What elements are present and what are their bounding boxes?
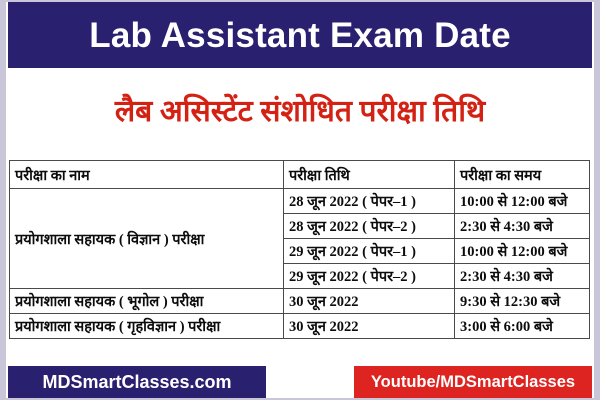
cell-exam-name: प्रयोगशाला सहायक ( विज्ञान ) परीक्षा (10, 189, 284, 289)
footer-website-bar[interactable]: MDSmartClasses.com (8, 366, 266, 398)
exam-schedule-table: परीक्षा का नाम परीक्षा तिथि परीक्षा का स… (9, 160, 590, 339)
footer-website-label: MDSmartClasses.com (42, 373, 231, 391)
table-body: प्रयोगशाला सहायक ( विज्ञान ) परीक्षा28 ज… (10, 189, 590, 339)
cell-exam-date: 30 जून 2022 (284, 289, 455, 314)
cell-exam-date: 29 जून 2022 ( पेपर–1 ) (284, 239, 455, 264)
cell-exam-time: 9:30 से 12:30 बजे (455, 289, 590, 314)
table-header-row: परीक्षा का नाम परीक्षा तिथि परीक्षा का स… (10, 161, 590, 189)
cell-exam-date: 30 जून 2022 (284, 314, 455, 339)
poster-title-bar: Lab Assistant Exam Date (8, 2, 592, 68)
column-header-exam-date: परीक्षा तिथि (284, 161, 455, 189)
cell-exam-time: 10:00 से 12:00 बजे (455, 189, 590, 214)
poster-footer: MDSmartClasses.com Youtube/MDSmartClasse… (8, 366, 592, 398)
poster-subheading-band: लैब असिस्टेंट संशोधित परीक्षा तिथि (8, 68, 592, 156)
exam-date-poster: Lab Assistant Exam Date लैब असिस्टेंट सं… (0, 0, 600, 400)
footer-youtube-label: Youtube/MDSmartClasses (371, 374, 575, 391)
cell-exam-time: 2:30 से 4:30 बजे (455, 214, 590, 239)
footer-youtube-bar[interactable]: Youtube/MDSmartClasses (354, 366, 592, 398)
cell-exam-name: प्रयोगशाला सहायक ( गृहविज्ञान ) परीक्षा (10, 314, 284, 339)
cell-exam-time: 2:30 से 4:30 बजे (455, 264, 590, 289)
table-row: प्रयोगशाला सहायक ( विज्ञान ) परीक्षा28 ज… (10, 189, 590, 214)
subheading-hindi: लैब असिस्टेंट संशोधित परीक्षा तिथि (115, 95, 485, 130)
table-row: प्रयोगशाला सहायक ( भूगोल ) परीक्षा30 जून… (10, 289, 590, 314)
page-title: Lab Assistant Exam Date (89, 18, 511, 53)
cell-exam-date: 28 जून 2022 ( पेपर–1 ) (284, 189, 455, 214)
cell-exam-time: 3:00 से 6:00 बजे (455, 314, 590, 339)
cell-exam-time: 10:00 से 12:00 बजे (455, 239, 590, 264)
exam-schedule-table-container: परीक्षा का नाम परीक्षा तिथि परीक्षा का स… (8, 160, 592, 339)
cell-exam-date: 28 जून 2022 ( पेपर–2 ) (284, 214, 455, 239)
cell-exam-date: 29 जून 2022 ( पेपर–2 ) (284, 264, 455, 289)
column-header-exam-name: परीक्षा का नाम (10, 161, 284, 189)
table-row: प्रयोगशाला सहायक ( गृहविज्ञान ) परीक्षा3… (10, 314, 590, 339)
cell-exam-name: प्रयोगशाला सहायक ( भूगोल ) परीक्षा (10, 289, 284, 314)
column-header-exam-time: परीक्षा का समय (455, 161, 590, 189)
table-header: परीक्षा का नाम परीक्षा तिथि परीक्षा का स… (10, 161, 590, 189)
